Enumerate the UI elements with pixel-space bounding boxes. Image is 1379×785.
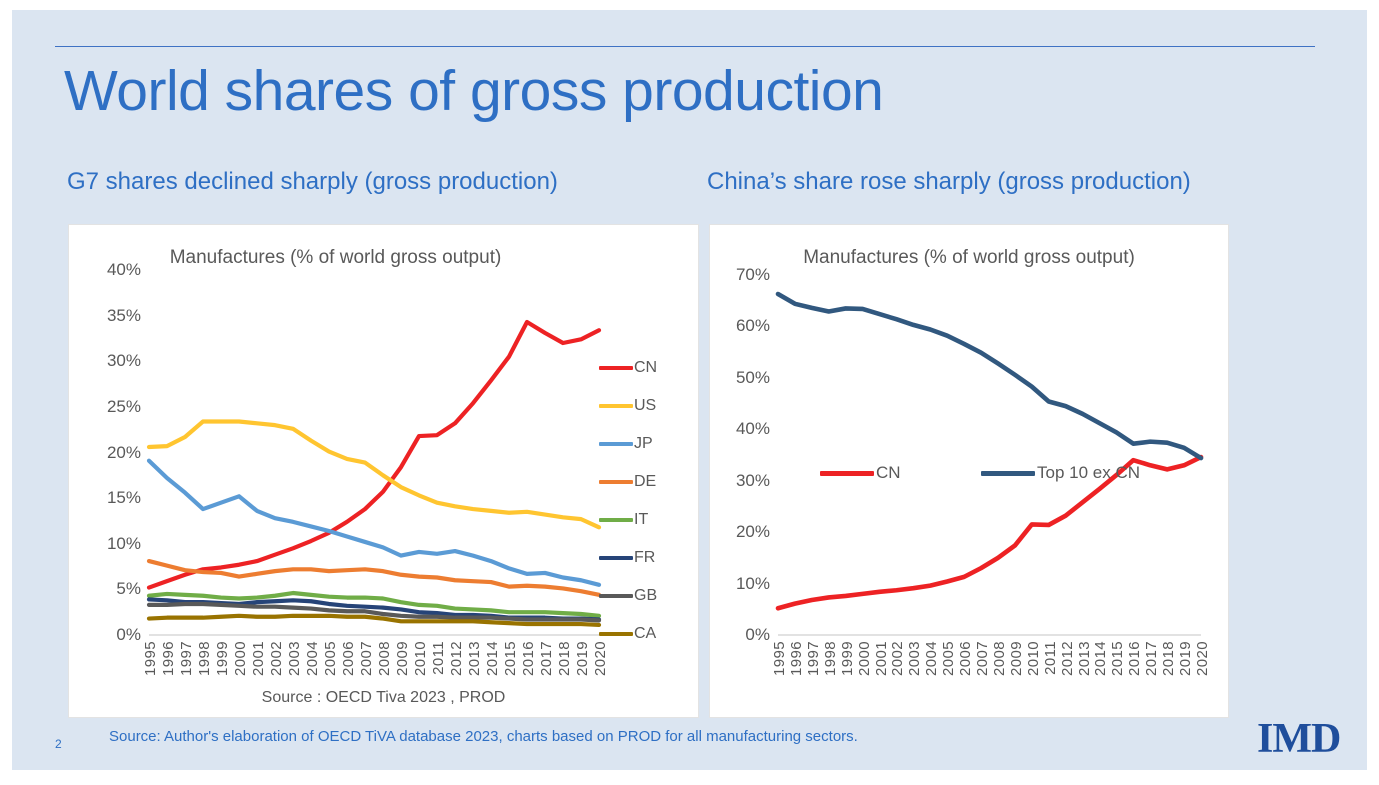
x-tick-label: 2001 [250, 641, 267, 676]
x-tick-label: 2005 [940, 641, 957, 676]
x-tick-label: 2007 [974, 641, 991, 676]
x-tick-label: 2001 [873, 641, 890, 676]
legend-item-gb[interactable]: GB [599, 587, 657, 605]
x-tick-label: 2008 [991, 641, 1008, 676]
y-tick-label: 20% [724, 522, 770, 542]
x-tick-label: 2011 [1042, 641, 1059, 675]
x-tick-label: 2018 [556, 641, 573, 676]
y-tick-label: 30% [95, 351, 141, 371]
x-tick-label: 2015 [502, 641, 519, 676]
x-tick-label: 2002 [889, 641, 906, 676]
x-tick-label: 1999 [839, 641, 856, 676]
x-tick-label: 2017 [1143, 641, 1160, 676]
legend-swatch-ca [599, 632, 633, 636]
y-tick-label: 5% [95, 579, 141, 599]
x-tick-label: 2014 [484, 641, 501, 676]
y-tick-label: 0% [724, 625, 770, 645]
y-tick-label: 25% [95, 397, 141, 417]
x-tick-label: 2020 [592, 641, 609, 676]
legend-item-cn[interactable]: CN [820, 463, 901, 483]
legend-item-de[interactable]: DE [599, 473, 656, 491]
x-tick-label: 2017 [538, 641, 555, 676]
legend-item-jp[interactable]: JP [599, 435, 653, 453]
x-tick-label: 1997 [178, 641, 195, 676]
x-tick-label: 2019 [574, 641, 591, 676]
x-tick-label: 2019 [1177, 641, 1194, 676]
y-tick-label: 20% [95, 443, 141, 463]
legend-label-gb: GB [634, 587, 657, 605]
g7-shares-chart-card: Manufactures (% of world gross output) C… [68, 224, 699, 718]
x-tick-label: 2012 [448, 641, 465, 676]
series-line-us [149, 421, 599, 527]
legend-label-ca: CA [634, 625, 656, 643]
x-tick-label: 2004 [923, 641, 940, 676]
legend-item-fr[interactable]: FR [599, 549, 655, 567]
x-tick-label: 2020 [1194, 641, 1211, 676]
left-chart-source-note: Source : OECD Tiva 2023 , PROD [69, 689, 698, 707]
y-tick-label: 50% [724, 368, 770, 388]
x-tick-label: 2010 [412, 641, 429, 676]
y-tick-label: 35% [95, 306, 141, 326]
x-tick-label: 2013 [466, 641, 483, 676]
legend-item-us[interactable]: US [599, 397, 656, 415]
china-share-chart-card: Manufactures (% of world gross output) C… [709, 224, 1229, 718]
x-tick-label: 2008 [376, 641, 393, 676]
left-panel-subtitle: G7 shares declined sharply (gross produc… [67, 168, 558, 196]
x-tick-label: 1999 [214, 641, 231, 676]
x-tick-label: 1996 [788, 641, 805, 676]
x-tick-label: 2013 [1076, 641, 1093, 676]
legend-item-it[interactable]: IT [599, 511, 648, 529]
y-tick-label: 10% [724, 574, 770, 594]
x-tick-label: 2007 [358, 641, 375, 676]
x-tick-label: 2015 [1109, 641, 1126, 676]
legend-swatch-jp [599, 442, 633, 446]
series-line-top-10-ex-cn [778, 294, 1201, 458]
x-tick-label: 2000 [856, 641, 873, 676]
legend-label-cn: CN [876, 463, 901, 483]
x-tick-label: 2004 [304, 641, 321, 676]
legend-label-us: US [634, 397, 656, 415]
x-tick-label: 2018 [1160, 641, 1177, 676]
legend-label-cn: CN [634, 359, 657, 377]
legend-swatch-top-10-ex-cn [981, 471, 1035, 476]
y-tick-label: 10% [95, 534, 141, 554]
series-line-cn [149, 322, 599, 588]
x-tick-label: 2012 [1059, 641, 1076, 676]
x-tick-label: 2014 [1092, 641, 1109, 676]
legend-swatch-cn [820, 471, 874, 476]
right-panel-subtitle: China’s share rose sharply (gross produc… [707, 168, 1191, 196]
y-tick-label: 60% [724, 316, 770, 336]
page-title: World shares of gross production [64, 62, 883, 122]
x-tick-label: 2016 [520, 641, 537, 676]
legend-item-top-10-ex-cn[interactable]: Top 10 ex CN [981, 463, 1140, 483]
slide-canvas: World shares of gross production G7 shar… [12, 10, 1367, 770]
y-tick-label: 40% [724, 419, 770, 439]
legend-swatch-de [599, 480, 633, 484]
x-tick-label: 2011 [430, 641, 447, 675]
y-tick-label: 0% [95, 625, 141, 645]
y-tick-label: 15% [95, 488, 141, 508]
x-tick-label: 2000 [232, 641, 249, 676]
legend-swatch-cn [599, 366, 633, 370]
x-tick-label: 2010 [1025, 641, 1042, 676]
legend-swatch-fr [599, 556, 633, 560]
slide-footnote: Source: Author's elaboration of OECD TiV… [109, 728, 858, 745]
x-tick-label: 1998 [822, 641, 839, 676]
y-tick-label: 70% [724, 265, 770, 285]
x-tick-label: 2006 [340, 641, 357, 676]
legend-label-it: IT [634, 511, 648, 529]
x-tick-label: 2009 [1008, 641, 1025, 676]
legend-label-fr: FR [634, 549, 655, 567]
x-tick-label: 2009 [394, 641, 411, 676]
x-tick-label: 1997 [805, 641, 822, 676]
x-tick-label: 1995 [142, 641, 159, 676]
page-number: 2 [55, 737, 62, 751]
x-tick-label: 2006 [957, 641, 974, 676]
legend-label-de: DE [634, 473, 656, 491]
x-tick-label: 2003 [906, 641, 923, 676]
x-tick-label: 1995 [771, 641, 788, 676]
x-tick-label: 1996 [160, 641, 177, 676]
legend-label-top-10-ex-cn: Top 10 ex CN [1037, 463, 1140, 483]
title-divider-rule [55, 46, 1315, 47]
imd-logo: IMD [1257, 715, 1340, 763]
legend-item-cn[interactable]: CN [599, 359, 657, 377]
y-tick-label: 40% [95, 260, 141, 280]
x-tick-label: 2002 [268, 641, 285, 676]
x-tick-label: 2003 [286, 641, 303, 676]
legend-swatch-us [599, 404, 633, 408]
legend-swatch-it [599, 518, 633, 522]
x-tick-label: 2016 [1126, 641, 1143, 676]
legend-swatch-gb [599, 594, 633, 598]
x-tick-label: 2005 [322, 641, 339, 676]
y-tick-label: 30% [724, 471, 770, 491]
x-tick-label: 1998 [196, 641, 213, 676]
legend-label-jp: JP [634, 435, 653, 453]
